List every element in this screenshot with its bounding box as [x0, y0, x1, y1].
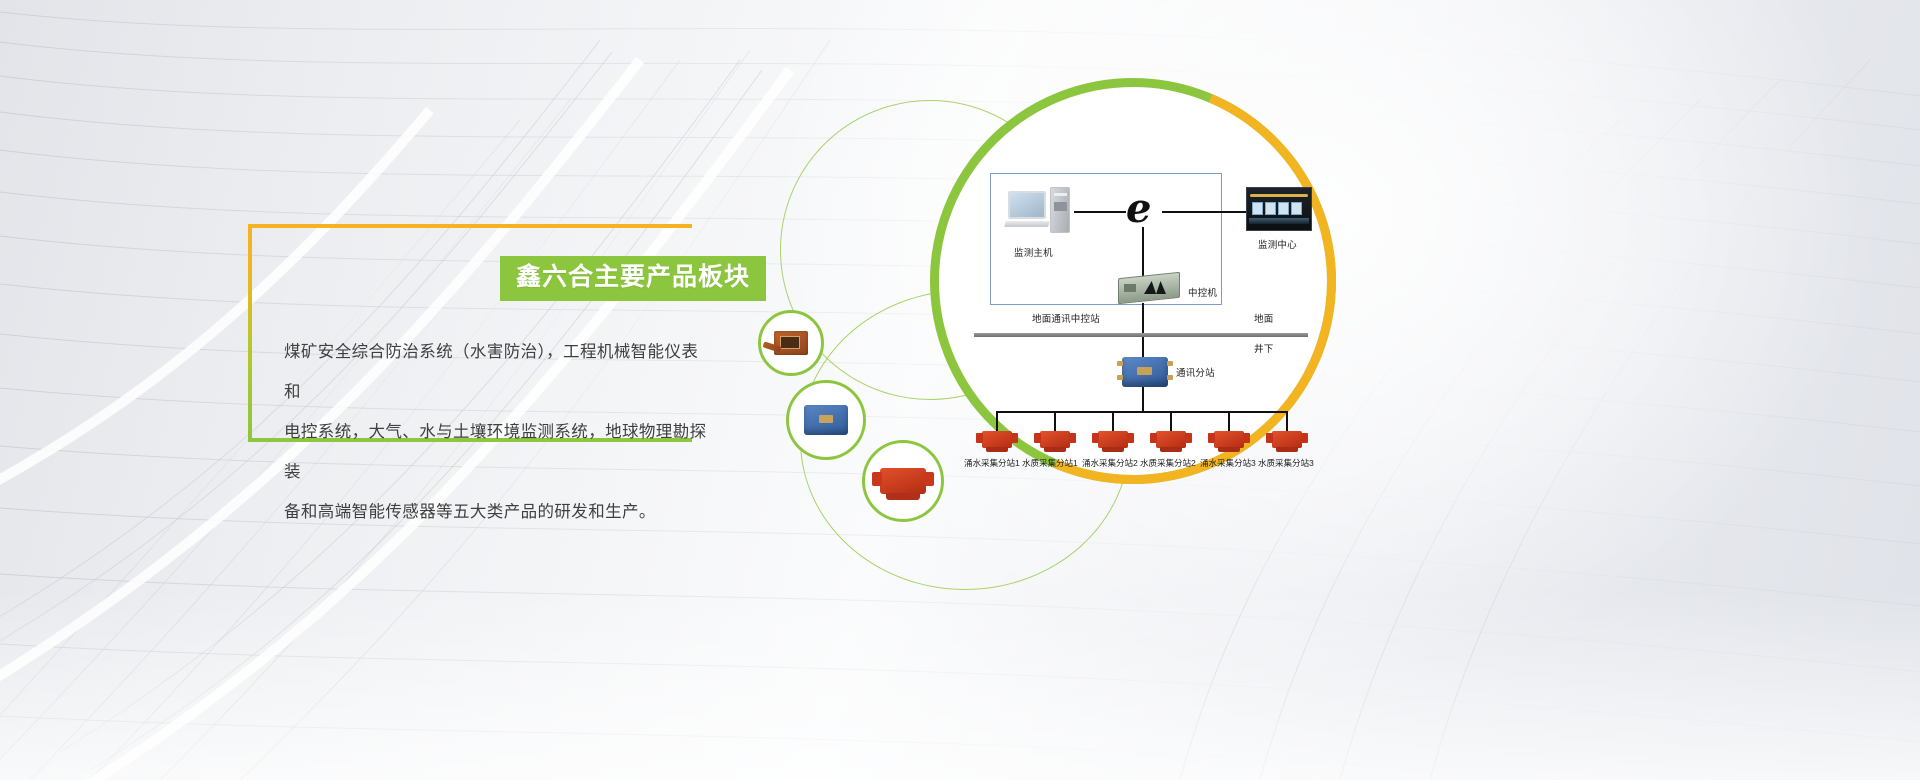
product-bubble-sensor[interactable]: [862, 440, 944, 522]
comm-substation-icon: [1122, 357, 1168, 387]
drop-wire-4: [1170, 411, 1172, 433]
description-line-2: 电控系统，大气、水与土壤环境监测系统，地球物理勘探装: [284, 412, 714, 492]
wire-hub-to-server: [1142, 227, 1144, 277]
label-comm-substation: 通讯分站: [1176, 365, 1215, 379]
station-label-1: 涌水采集分站1: [964, 457, 1020, 469]
monitor-host-icon: [1008, 191, 1048, 225]
wire-host-to-hub: [1074, 211, 1126, 213]
label-monitor-center: 监测中心: [1258, 237, 1297, 251]
monitor-center-icon: [1246, 187, 1312, 231]
page-title: 鑫六合主要产品板块: [500, 256, 766, 301]
field-sensor-icon-6: [1272, 431, 1302, 448]
label-underground: 井下: [1254, 341, 1273, 355]
field-sensor-icon-4: [1156, 431, 1186, 448]
background-bottom-fade: [0, 590, 1920, 780]
brown-controller-icon: [774, 331, 808, 355]
field-sensor-icon-3: [1098, 431, 1128, 448]
drop-wire-3: [1112, 411, 1114, 433]
field-sensor-icon-2: [1040, 431, 1070, 448]
wire-hub-to-center: [1162, 211, 1248, 213]
red-sensor-icon: [880, 468, 926, 494]
central-control-server-icon: [1118, 275, 1184, 309]
station-label-4: 水质采集分站2: [1140, 457, 1196, 469]
label-surface: 地面: [1254, 311, 1273, 325]
drop-wire-1: [996, 411, 998, 433]
drop-wire-6: [1286, 411, 1288, 433]
station-label-3: 涌水采集分站2: [1082, 457, 1138, 469]
label-monitor-host: 监测主机: [1014, 245, 1053, 259]
station-label-2: 水质采集分站1: [1022, 457, 1078, 469]
network-hub-e-icon: e: [1126, 195, 1160, 229]
drop-wire-5: [1228, 411, 1230, 433]
station-label-5: 涌水采集分站3: [1200, 457, 1256, 469]
system-topology-diagram: 监测主机 e 监测中心 中控机 地面通讯中控站 地面 井下: [966, 165, 1316, 465]
wire-server-to-substation: [1142, 303, 1144, 359]
field-bus-line: [996, 411, 1288, 413]
description-line-1: 煤矿安全综合防治系统（水害防治），工程机械智能仪表和: [284, 332, 714, 412]
product-description: 煤矿安全综合防治系统（水害防治），工程机械智能仪表和 电控系统，大气、水与土壤环…: [284, 332, 714, 532]
station-label-6: 水质采集分站3: [1258, 457, 1314, 469]
hero-banner: 鑫六合主要产品板块 煤矿安全综合防治系统（水害防治），工程机械智能仪表和 电控系…: [0, 0, 1920, 780]
surface-divider: [974, 333, 1308, 337]
field-sensor-icon-5: [1214, 431, 1244, 448]
pc-tower-icon: [1050, 187, 1070, 233]
product-bubble-substation[interactable]: [786, 380, 866, 460]
blue-junction-box-icon: [804, 405, 848, 435]
product-bubble-instrument[interactable]: [758, 310, 824, 376]
drop-wire-2: [1054, 411, 1056, 433]
label-ground-station: 地面通讯中控站: [1032, 311, 1100, 325]
wire-substation-to-bus: [1142, 385, 1144, 411]
label-central-control: 中控机: [1188, 285, 1217, 299]
field-sensor-icon-1: [982, 431, 1012, 448]
description-line-3: 备和高端智能传感器等五大类产品的研发和生产。: [284, 492, 714, 532]
